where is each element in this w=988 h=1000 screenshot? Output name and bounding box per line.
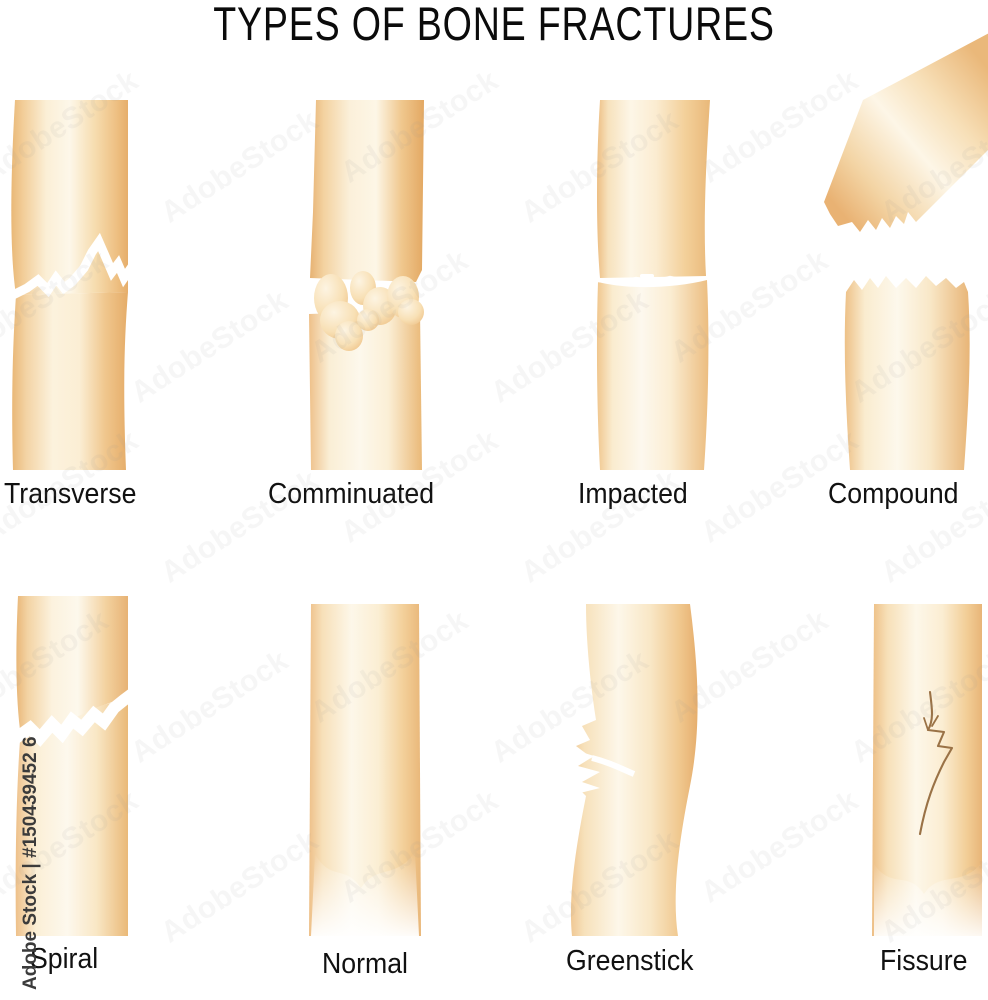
bone-lower-segment	[597, 280, 708, 470]
watermark-side-text: Adobe Stock | #150439452 6	[20, 736, 42, 990]
caption-comminuated: Comminuated	[268, 478, 434, 511]
figure-transverse	[0, 92, 160, 482]
bone-upper-segment	[310, 100, 424, 282]
bone-upper-segment	[597, 100, 710, 278]
caption-transverse: Transverse	[4, 478, 136, 511]
figure-comminuated	[280, 92, 450, 482]
caption-greenstick: Greenstick	[566, 945, 694, 978]
bone-lower-segment	[309, 310, 422, 470]
caption-impacted: Impacted	[578, 478, 688, 511]
caption-normal: Normal	[322, 948, 408, 981]
bone-displaced-fragment	[824, 32, 988, 232]
bone-lower-segment	[12, 292, 128, 470]
bone-lower-segment	[845, 276, 970, 470]
figure-normal	[285, 596, 445, 946]
impaction-gap	[640, 274, 654, 278]
caption-fissure: Fissure	[880, 945, 967, 978]
figure-greenstick	[548, 596, 728, 946]
figure-fissure	[858, 596, 988, 946]
caption-compound: Compound	[828, 478, 959, 511]
page-title: TYPES OF BONE FRACTURES	[99, 0, 889, 51]
figure-compound	[820, 92, 988, 482]
figure-impacted	[570, 92, 735, 482]
illustration-canvas: TYPES OF BONE FRACTURES	[0, 0, 988, 1000]
